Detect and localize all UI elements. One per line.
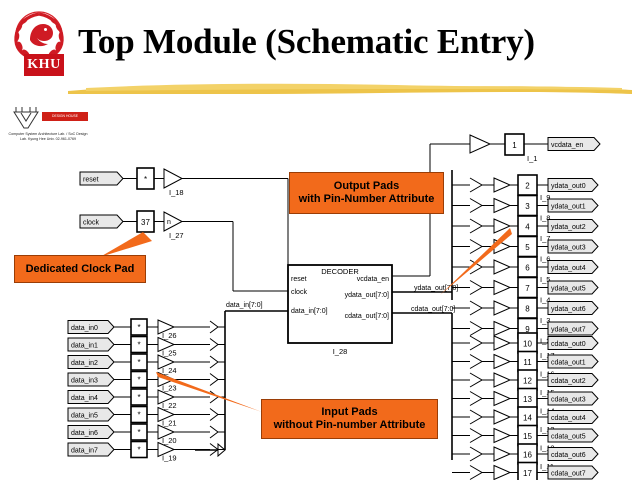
- port-label-data_in5: data_in5: [71, 413, 98, 420]
- port-label-ydata_out5: ydata_out5: [551, 286, 586, 293]
- buffer-label-I1: I_1: [527, 154, 537, 163]
- port-label-cdata_out3: cdata_out3: [551, 397, 586, 404]
- pad-pin-cdata_out3: 13: [523, 395, 532, 404]
- pad-row-cdata_out7[interactable]: 17I_10cdata_out7: [452, 463, 598, 480]
- buffer-label-I18: I_18: [169, 188, 184, 197]
- wreath-emblem-icon: [10, 10, 68, 60]
- decoder-instance: I_28: [333, 347, 348, 356]
- port-label-cdata_out6: cdata_out6: [551, 452, 586, 459]
- callout-output-line2: with Pin-Number Attribute: [299, 193, 435, 206]
- page-title: Top Module (Schematic Entry): [78, 22, 634, 68]
- port-label-data_in4: data_in4: [71, 395, 98, 402]
- callout-input-pads: Input Pads without Pin-number Attribute: [261, 399, 438, 439]
- decoder-out-ydata: ydata_out[7:0]: [345, 292, 389, 299]
- pad-pin-reset: *: [144, 175, 147, 184]
- port-label-clock: clock: [83, 220, 99, 227]
- port-label-vcdata-en: vcdata_en: [551, 142, 583, 149]
- callout-input-line1: Input Pads: [321, 406, 377, 419]
- pad-pin-cdata_out6: 16: [523, 451, 532, 460]
- bus-label-cdata-out: cdata_out[7:0]: [411, 306, 455, 313]
- ydata-out-pad-group[interactable]: 2I_9ydata_out03I_8ydata_out14I_7ydata_ou…: [452, 175, 598, 346]
- decoder-title: DECODER: [321, 267, 359, 276]
- buffer-label-I_24: I_24: [162, 366, 177, 375]
- pad-pin-ydata_out1: 3: [525, 202, 530, 211]
- pad-pin-cdata_out5: 15: [523, 432, 532, 441]
- pad-pin-data_in0: *: [137, 323, 140, 332]
- pad-pin-ydata_out3: 5: [525, 243, 530, 252]
- port-label-data_in6: data_in6: [71, 430, 98, 437]
- port-label-data_in2: data_in2: [71, 360, 98, 367]
- buffer-label-I_22: I_22: [162, 401, 177, 410]
- pad-pin-data_in3: *: [137, 376, 140, 385]
- port-label-data_in0: data_in0: [71, 325, 98, 332]
- pad-pin-data_in1: *: [137, 341, 140, 350]
- pad-pin-data_in2: *: [137, 358, 140, 367]
- callout-dedicated-clock-pad: Dedicated Clock Pad: [14, 255, 146, 283]
- port-label-cdata_out4: cdata_out4: [551, 415, 586, 422]
- buffer-label-I_21: I_21: [162, 419, 177, 428]
- pad-pin-cdata_out0: 10: [523, 340, 532, 349]
- buffer-label-I27: I_27: [169, 231, 184, 240]
- pad-pin-data_in7: *: [137, 446, 140, 455]
- callout-input-line2: without Pin-number Attribute: [274, 419, 426, 432]
- decoder-block[interactable]: DECODER reset clock data_in[7:0] vcdata_…: [288, 265, 392, 356]
- port-label-cdata_out2: cdata_out2: [551, 378, 586, 385]
- decoder-out-vcdataen: vcdata_en: [357, 276, 389, 283]
- callout-output-pads: Output Pads with Pin-Number Attribute: [289, 172, 444, 214]
- khu-university-logo: KHU: [10, 10, 68, 78]
- port-label-data_in3: data_in3: [71, 378, 98, 385]
- pad-pin-ydata_out6: 8: [525, 305, 530, 314]
- pad-pin-ydata_out2: 4: [525, 223, 530, 232]
- khu-wordmark: KHU: [24, 54, 64, 76]
- port-label-reset: reset: [83, 177, 99, 184]
- buffer-label-I_25: I_25: [162, 349, 177, 358]
- pad-pin-cdata_out4: 14: [523, 414, 532, 423]
- port-label-data_in7: data_in7: [71, 448, 98, 455]
- port-label-ydata_out6: ydata_out6: [551, 306, 586, 313]
- pad-pin-cdata_out2: 12: [523, 377, 532, 386]
- callout-output-line1: Output Pads: [334, 180, 399, 193]
- port-label-ydata_out7: ydata_out7: [551, 327, 586, 334]
- pad-pin-data_in6: *: [137, 428, 140, 437]
- clock-buffer-glyph: n: [167, 219, 171, 226]
- port-label-ydata_out0: ydata_out0: [551, 183, 586, 190]
- pad-pin-clock: 37: [141, 218, 150, 227]
- pad-row-data_in7[interactable]: data_in7*I_19: [68, 442, 225, 463]
- buffer-label-I_23: I_23: [162, 384, 177, 393]
- port-label-cdata_out5: cdata_out5: [551, 434, 586, 441]
- port-label-cdata_out1: cdata_out1: [551, 360, 586, 367]
- decoder-in-clock: clock: [291, 289, 307, 296]
- decoder-in-datain: data_in[7:0]: [291, 308, 328, 315]
- decoder-out-cdata: cdata_out[7:0]: [345, 313, 389, 320]
- buffer-label-I_26: I_26: [162, 331, 177, 340]
- pad-pin-data_in4: *: [137, 393, 140, 402]
- port-label-ydata_out1: ydata_out1: [551, 204, 586, 211]
- pad-pin-cdata_out1: 11: [523, 358, 532, 367]
- buffer-label-I_20: I_20: [162, 436, 177, 445]
- pad-pin-cdata_out7: 17: [523, 469, 532, 478]
- pad-pin-data_in5: *: [137, 411, 140, 420]
- callout-clock-line1: Dedicated Clock Pad: [26, 263, 135, 276]
- port-label-ydata_out4: ydata_out4: [551, 265, 586, 272]
- decoder-in-reset: reset: [291, 276, 307, 283]
- port-label-ydata_out3: ydata_out3: [551, 245, 586, 252]
- pad-pin-ydata_out0: 2: [525, 182, 530, 191]
- buffer-label-I_19: I_19: [162, 454, 177, 463]
- cdata-out-pad-group[interactable]: 10I_17cdata_out011I_16cdata_out112I_15cd…: [452, 333, 598, 480]
- slide-canvas: KHU Top Module (Schematic Entry) DESIGN …: [0, 0, 640, 480]
- port-label-cdata_out0: cdata_out0: [551, 341, 586, 348]
- port-label-cdata_out7: cdata_out7: [551, 471, 586, 478]
- port-label-data_in1: data_in1: [71, 343, 98, 350]
- bus-label-data-in: data_in[7:0]: [226, 302, 263, 309]
- pad-pin-ydata_out5: 7: [525, 284, 530, 293]
- pad-pin-ydata_out4: 6: [525, 264, 530, 273]
- title-underline-brush: [66, 80, 634, 96]
- pad-pin-vcdata-en: 1: [512, 141, 517, 150]
- port-label-ydata_out2: ydata_out2: [551, 224, 586, 231]
